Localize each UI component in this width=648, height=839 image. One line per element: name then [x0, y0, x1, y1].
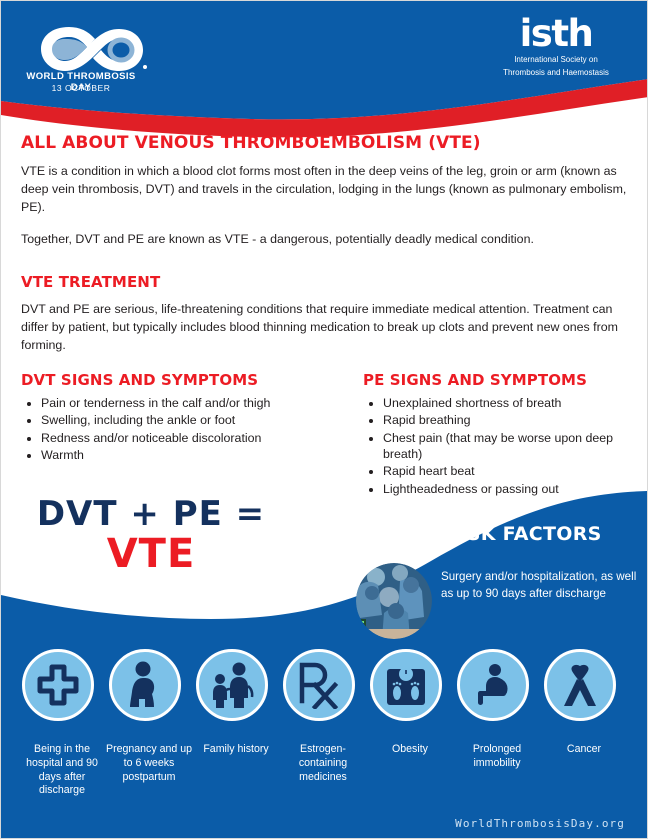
- pe-heading: PE SIGNS AND SYMPTOMS: [363, 371, 648, 389]
- pregnant-woman-icon[interactable]: [109, 649, 181, 721]
- pe-column: PE SIGNS AND SYMPTOMS Unexplained shortn…: [331, 371, 648, 498]
- list-item: Swelling, including the ankle or foot: [41, 412, 331, 428]
- risk-icon-cell-cancer[interactable]: [544, 649, 624, 721]
- dvt-column: DVT SIGNS AND SYMPTOMS Pain or tendernes…: [1, 371, 331, 498]
- risk-label-family: Family history: [190, 743, 282, 757]
- wtd-logo-date: 13 OCTOBER: [15, 83, 147, 93]
- page-title: ALL ABOUT VENOUS THROMBOEMBOLISM (VTE): [21, 133, 629, 153]
- risk-label-hospital: Being in the hospital and 90 days after …: [16, 743, 108, 798]
- risk-icon-cell-obesity[interactable]: [370, 649, 450, 721]
- risk-factors-title: VTE RISK FACTORS: [396, 523, 602, 545]
- footer-website[interactable]: WorldThrombosisDay.org: [455, 817, 625, 830]
- dvt-symptom-list: Pain or tenderness in the calf and/or th…: [21, 395, 331, 464]
- list-item: Warmth: [41, 447, 331, 463]
- featured-risk-text: Surgery and/or hospitalization, as well …: [441, 569, 637, 603]
- risk-factor-icons: [1, 649, 648, 729]
- seated-person-icon[interactable]: [457, 649, 529, 721]
- awareness-ribbon-icon[interactable]: [544, 649, 616, 721]
- header-banner: WORLD THROMBOSIS DAY 13 OCTOBER isth Int…: [1, 1, 648, 141]
- risk-label-estrogen: Estrogen-containing medicines: [277, 743, 369, 784]
- isth-logo: isth International Society on Thrombosis…: [481, 15, 631, 78]
- risk-icon-cell-immobility[interactable]: [457, 649, 537, 721]
- list-item: Chest pain (that may be worse upon deep …: [383, 430, 648, 463]
- dvt-pe-vte-equation: DVT + PE = VTE: [1, 497, 301, 575]
- weight-scale-icon[interactable]: [370, 649, 442, 721]
- family-icon[interactable]: [196, 649, 268, 721]
- main-content: ALL ABOUT VENOUS THROMBOEMBOLISM (VTE) V…: [1, 133, 648, 498]
- risk-icon-cell-estrogen[interactable]: [283, 649, 363, 721]
- medical-cross-icon[interactable]: [22, 649, 94, 721]
- list-item: Rapid breathing: [383, 412, 648, 428]
- equation-line-2: VTE: [1, 533, 301, 575]
- pe-symptom-list: Unexplained shortness of breath Rapid br…: [363, 395, 648, 497]
- dvt-heading: DVT SIGNS AND SYMPTOMS: [21, 371, 331, 389]
- surgery-photo: [356, 563, 432, 639]
- symptoms-columns: DVT SIGNS AND SYMPTOMS Pain or tendernes…: [1, 371, 648, 498]
- infographic-poster: WORLD THROMBOSIS DAY 13 OCTOBER isth Int…: [0, 0, 648, 839]
- isth-wordmark: isth: [481, 15, 631, 52]
- risk-icon-cell-family[interactable]: [196, 649, 276, 721]
- intro-paragraph-2: Together, DVT and PE are known as VTE - …: [21, 231, 629, 249]
- equation-line-1: DVT + PE =: [1, 497, 301, 531]
- treatment-paragraph: DVT and PE are serious, life-threatening…: [21, 301, 629, 355]
- risk-icon-cell-hospital[interactable]: [22, 649, 102, 721]
- list-item: Rapid heart beat: [383, 463, 648, 479]
- isth-subtitle-line-1: International Society on: [481, 55, 631, 65]
- risk-label-obesity: Obesity: [364, 743, 456, 757]
- operating-room-photo-icon: [356, 563, 432, 639]
- prescription-rx-icon[interactable]: [283, 649, 355, 721]
- intro-paragraph: VTE is a condition in which a blood clot…: [21, 163, 629, 217]
- risk-label-pregnancy: Pregnancy and up to 6 weeks postpartum: [103, 743, 195, 784]
- isth-subtitle-line-2: Thrombosis and Haemostasis: [481, 68, 631, 78]
- risk-icon-cell-pregnancy[interactable]: [109, 649, 189, 721]
- list-item: Redness and/or noticeable discoloration: [41, 430, 331, 446]
- wtd-infinity-icon: [15, 15, 147, 77]
- list-item: Pain or tenderness in the calf and/or th…: [41, 395, 331, 411]
- risk-label-cancer: Cancer: [538, 743, 630, 757]
- treatment-heading: VTE TREATMENT: [21, 273, 629, 291]
- list-item: Unexplained shortness of breath: [383, 395, 648, 411]
- risk-label-immobility: Prolonged immobility: [451, 743, 543, 771]
